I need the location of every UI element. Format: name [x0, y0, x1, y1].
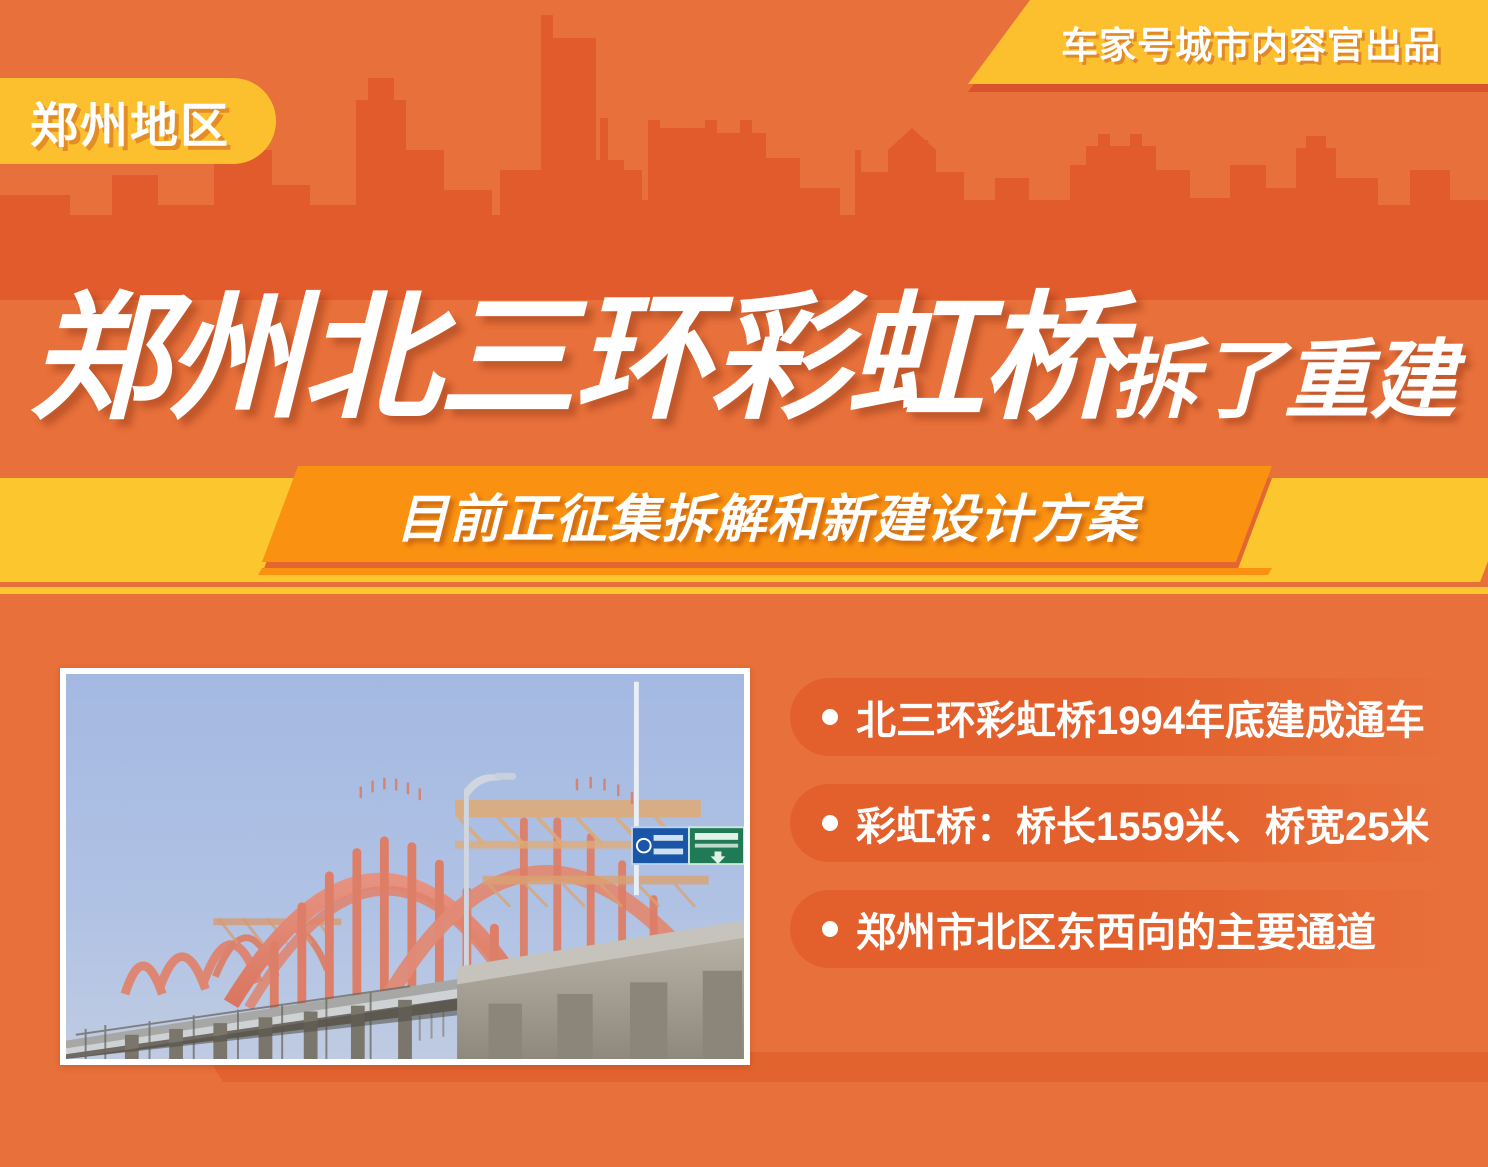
list-item: 郑州市北区东西向的主要通道: [790, 890, 1460, 968]
subtitle-text: 目前正征集拆解和新建设计方案: [262, 466, 1272, 562]
bridge-photo-frame: [60, 668, 750, 1065]
headline-suffix: 拆了重建: [1112, 338, 1456, 428]
bullet-label: 彩虹桥：桥长1559米、桥宽25米: [856, 794, 1429, 852]
orange-accent-line: [258, 568, 1272, 575]
bridge-photo-illustration: [66, 674, 744, 1059]
bullet-dot-icon: [822, 921, 838, 937]
bullet-dot-icon: [822, 815, 838, 831]
list-item: 北三环彩虹桥1994年底建成通车: [790, 678, 1460, 756]
headline-main: 郑州北三环彩虹桥: [30, 290, 1118, 428]
bullet-dot-icon: [822, 709, 838, 725]
bullet-label: 北三环彩虹桥1994年底建成通车: [856, 688, 1425, 746]
infographic-poster: 车家号城市内容官出品 郑州地区 郑州北三环彩虹桥 拆了重建 目前正征集拆解和新建…: [0, 0, 1488, 1167]
list-item: 彩虹桥：桥长1559米、桥宽25米: [790, 784, 1460, 862]
region-badge: 郑州地区: [0, 78, 276, 164]
fact-list: 北三环彩虹桥1994年底建成通车 彩虹桥：桥长1559米、桥宽25米 郑州市北区…: [790, 678, 1460, 996]
ribbon-label: 车家号城市内容官出品: [968, 0, 1488, 84]
publisher-ribbon: 车家号城市内容官出品: [968, 0, 1488, 92]
bridge-photo: [66, 674, 744, 1059]
region-label: 郑州地区: [30, 86, 230, 156]
headline: 郑州北三环彩虹桥 拆了重建: [30, 258, 1470, 428]
bullet-label: 郑州市北区东西向的主要通道: [856, 900, 1376, 958]
yellow-accent-line: [0, 587, 1488, 594]
